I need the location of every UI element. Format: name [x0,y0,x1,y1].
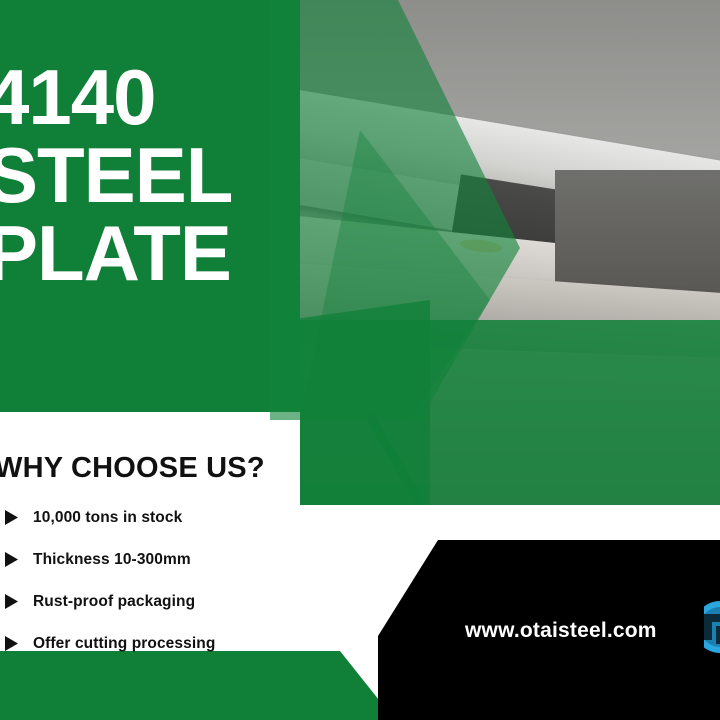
list-item-label: Offer cutting processing [33,635,215,653]
list-item: Offer cutting processing [5,629,345,658]
green-accent-stripe [366,410,434,510]
features-heading: WHY CHOOSE US? [0,452,265,485]
page-title: 4140 STEEL PLATE [0,58,326,292]
arrow-right-icon [5,594,18,609]
list-item: Rust-proof packaging [5,587,345,616]
arrow-right-icon [5,510,18,525]
website-url[interactable]: www.otaisteel.com [465,619,657,643]
list-item-label: Rust-proof packaging [33,593,195,611]
features-list: 10,000 tons in stock Thickness 10-300mm … [5,503,345,671]
otai-steel-logo [694,596,720,658]
arrow-right-icon [5,636,18,651]
title-line-2: STEEL [0,136,326,214]
list-item: Thickness 10-300mm [5,545,345,574]
arrow-right-icon [5,552,18,567]
poster-canvas: 4140 STEEL PLATE WHY CHOOSE US? 10,000 t… [0,0,720,720]
list-item-label: 10,000 tons in stock [33,509,182,527]
title-line-1: 4140 [0,58,326,136]
title-line-3: PLATE [0,214,326,292]
list-item: 10,000 tons in stock [5,503,345,532]
list-item-label: Thickness 10-300mm [33,551,191,569]
